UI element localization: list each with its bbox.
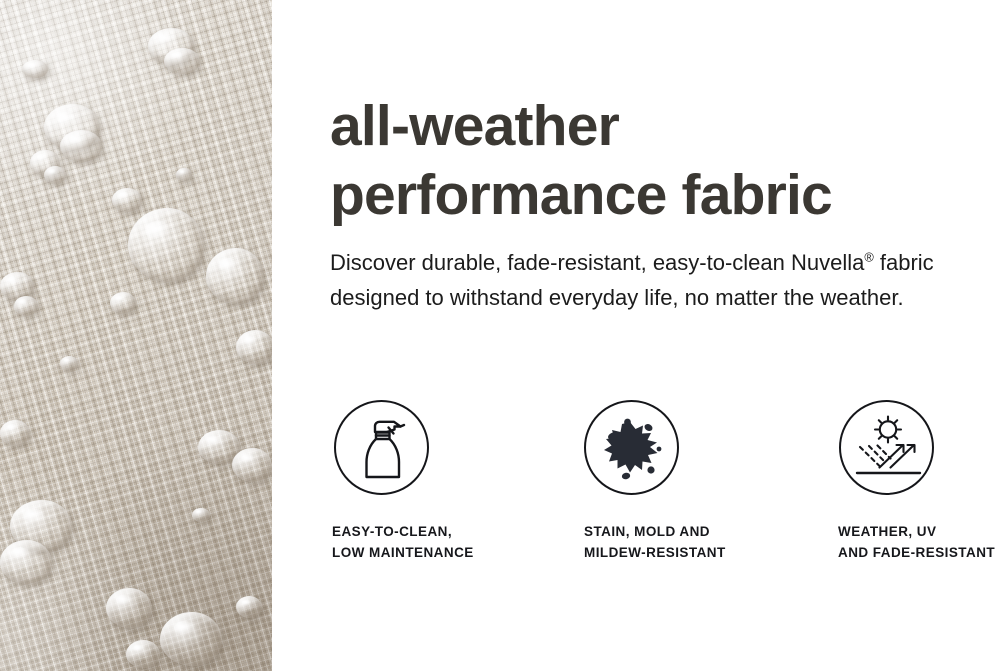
stain-splatter-icon: [584, 400, 679, 495]
water-droplet: [60, 130, 102, 162]
water-droplet: [112, 188, 142, 212]
all-weather-fabric-banner: all-weather performance fabric Discover …: [0, 0, 1005, 671]
water-droplet: [176, 168, 192, 181]
subcopy-text: Discover durable, fade-resistant, easy-t…: [330, 245, 970, 315]
water-droplet: [232, 448, 272, 482]
registered-trademark-mark: ®: [864, 250, 873, 265]
feature-list: EASY-TO-CLEAN, LOW MAINTENANCE STAIN, M: [330, 400, 990, 580]
water-droplet: [236, 596, 262, 618]
water-droplet: [44, 166, 66, 184]
feature-item-stain-resistant: STAIN, MOLD AND MILDEW-RESISTANT: [557, 400, 787, 563]
water-droplet: [22, 60, 48, 78]
water-droplet: [60, 356, 78, 371]
water-droplet: [192, 508, 210, 522]
feature-item-uv-resistant: WEATHER, UV AND FADE-RESISTANT: [784, 400, 1005, 563]
water-droplet: [236, 330, 272, 364]
water-droplet-group: [0, 0, 272, 671]
water-droplet: [160, 612, 222, 666]
water-droplet: [126, 640, 160, 668]
page-title: all-weather performance fabric: [330, 92, 990, 230]
water-droplet: [110, 292, 136, 314]
banner-content: all-weather performance fabric Discover …: [330, 0, 990, 671]
spray-bottle-icon: [334, 400, 429, 495]
water-droplet: [106, 588, 152, 628]
water-droplet: [206, 248, 264, 304]
feature-label: EASY-TO-CLEAN, LOW MAINTENANCE: [332, 521, 562, 563]
subcopy-part-one: Discover durable, fade-resistant, easy-t…: [330, 250, 864, 275]
sun-uv-reflect-icon: [839, 400, 934, 495]
water-droplet: [14, 296, 38, 316]
water-droplet: [0, 420, 30, 446]
water-droplet: [0, 540, 52, 584]
fabric-photo-panel: [0, 0, 272, 671]
water-droplet: [164, 48, 200, 74]
feature-label: STAIN, MOLD AND MILDEW-RESISTANT: [584, 521, 787, 563]
feature-item-easy-to-clean: EASY-TO-CLEAN, LOW MAINTENANCE: [332, 400, 562, 563]
feature-label: WEATHER, UV AND FADE-RESISTANT: [838, 521, 1005, 563]
water-droplet: [128, 208, 204, 282]
